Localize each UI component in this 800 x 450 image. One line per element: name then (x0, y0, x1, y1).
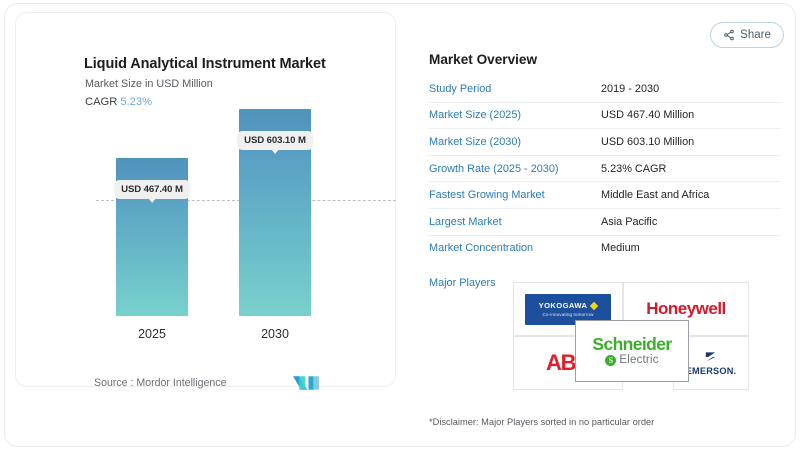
logo-cell-schneider[interactable]: Schneider S Electric (575, 320, 689, 382)
row-value: Medium (601, 242, 640, 254)
emerson-name: EMERSON. (686, 366, 737, 376)
major-players-label: Major Players (429, 277, 496, 289)
cagr-value: 5.23% (120, 96, 152, 108)
disclaimer-text: *Disclaimer: Major Players sorted in no … (429, 417, 654, 427)
table-row: Market Size (2025) USD 467.40 Million (429, 103, 781, 130)
table-row: Market Concentration Medium (429, 236, 781, 262)
row-value: 2019 - 2030 (601, 83, 659, 95)
share-icon (723, 29, 735, 41)
row-value: USD 467.40 Million (601, 109, 694, 121)
row-value: Asia Pacific (601, 216, 657, 228)
row-value: USD 603.10 Million (601, 136, 694, 148)
table-row: Growth Rate (2025 - 2030) 5.23% CAGR (429, 156, 781, 183)
row-value: Middle East and Africa (601, 189, 709, 201)
overview-title: Market Overview (429, 52, 537, 67)
yokogawa-diamond-icon (590, 301, 598, 309)
mordor-intelligence-logo (292, 375, 320, 391)
bar-chart-plot: USD 467.40 M USD 603.10 M 2025 2030 (26, 123, 406, 363)
schneider-name: Schneider (592, 336, 671, 354)
report-card: Share Liquid Analytical Instrument Marke… (4, 3, 796, 447)
emerson-mark-icon (703, 350, 718, 364)
chart-title: Liquid Analytical Instrument Market (84, 56, 326, 72)
bar-label-2030: USD 603.10 M (237, 131, 313, 150)
honeywell-logo: Honeywell (646, 299, 726, 319)
table-row: Fastest Growing Market Middle East and A… (429, 182, 781, 209)
row-value: 5.23% CAGR (601, 163, 666, 175)
share-button[interactable]: Share (710, 22, 784, 48)
emerson-logo: EMERSON. (686, 350, 737, 376)
yokogawa-tagline: Co-innovating tomorrow (543, 312, 594, 317)
row-key: Fastest Growing Market (429, 189, 601, 201)
x-axis-label-2030: 2030 (239, 327, 311, 341)
x-axis-label-2025: 2025 (116, 327, 188, 341)
table-row: Largest Market Asia Pacific (429, 209, 781, 236)
chart-source: Source : Mordor Intelligence (94, 377, 227, 389)
overview-table: Study Period 2019 - 2030 Market Size (20… (429, 76, 781, 261)
bar-label-2025: USD 467.40 M (114, 180, 190, 199)
share-button-label: Share (740, 29, 771, 41)
schneider-electric-logo: Schneider S Electric (592, 336, 671, 367)
row-key: Market Concentration (429, 242, 601, 254)
schneider-electric-word: Electric (619, 355, 658, 367)
row-key: Market Size (2030) (429, 136, 601, 148)
screenshot-root: Share Liquid Analytical Instrument Marke… (0, 0, 800, 450)
chart-cagr: CAGR5.23% (85, 96, 152, 108)
schneider-mark-icon: S (605, 355, 616, 366)
row-key: Largest Market (429, 216, 601, 228)
cagr-label: CAGR (85, 96, 117, 108)
row-key: Market Size (2025) (429, 109, 601, 121)
major-players-logo-grid: YOKOGAWA Co-innovating tomorrow Honeywel… (513, 282, 749, 390)
row-key: Growth Rate (2025 - 2030) (429, 163, 601, 175)
row-key: Study Period (429, 83, 601, 95)
chart-panel: Liquid Analytical Instrument Market Mark… (15, 12, 396, 387)
yokogawa-name: YOKOGAWA (539, 301, 588, 310)
table-row: Market Size (2030) USD 603.10 Million (429, 129, 781, 156)
table-row: Study Period 2019 - 2030 (429, 76, 781, 103)
chart-subtitle: Market Size in USD Million (85, 78, 213, 90)
